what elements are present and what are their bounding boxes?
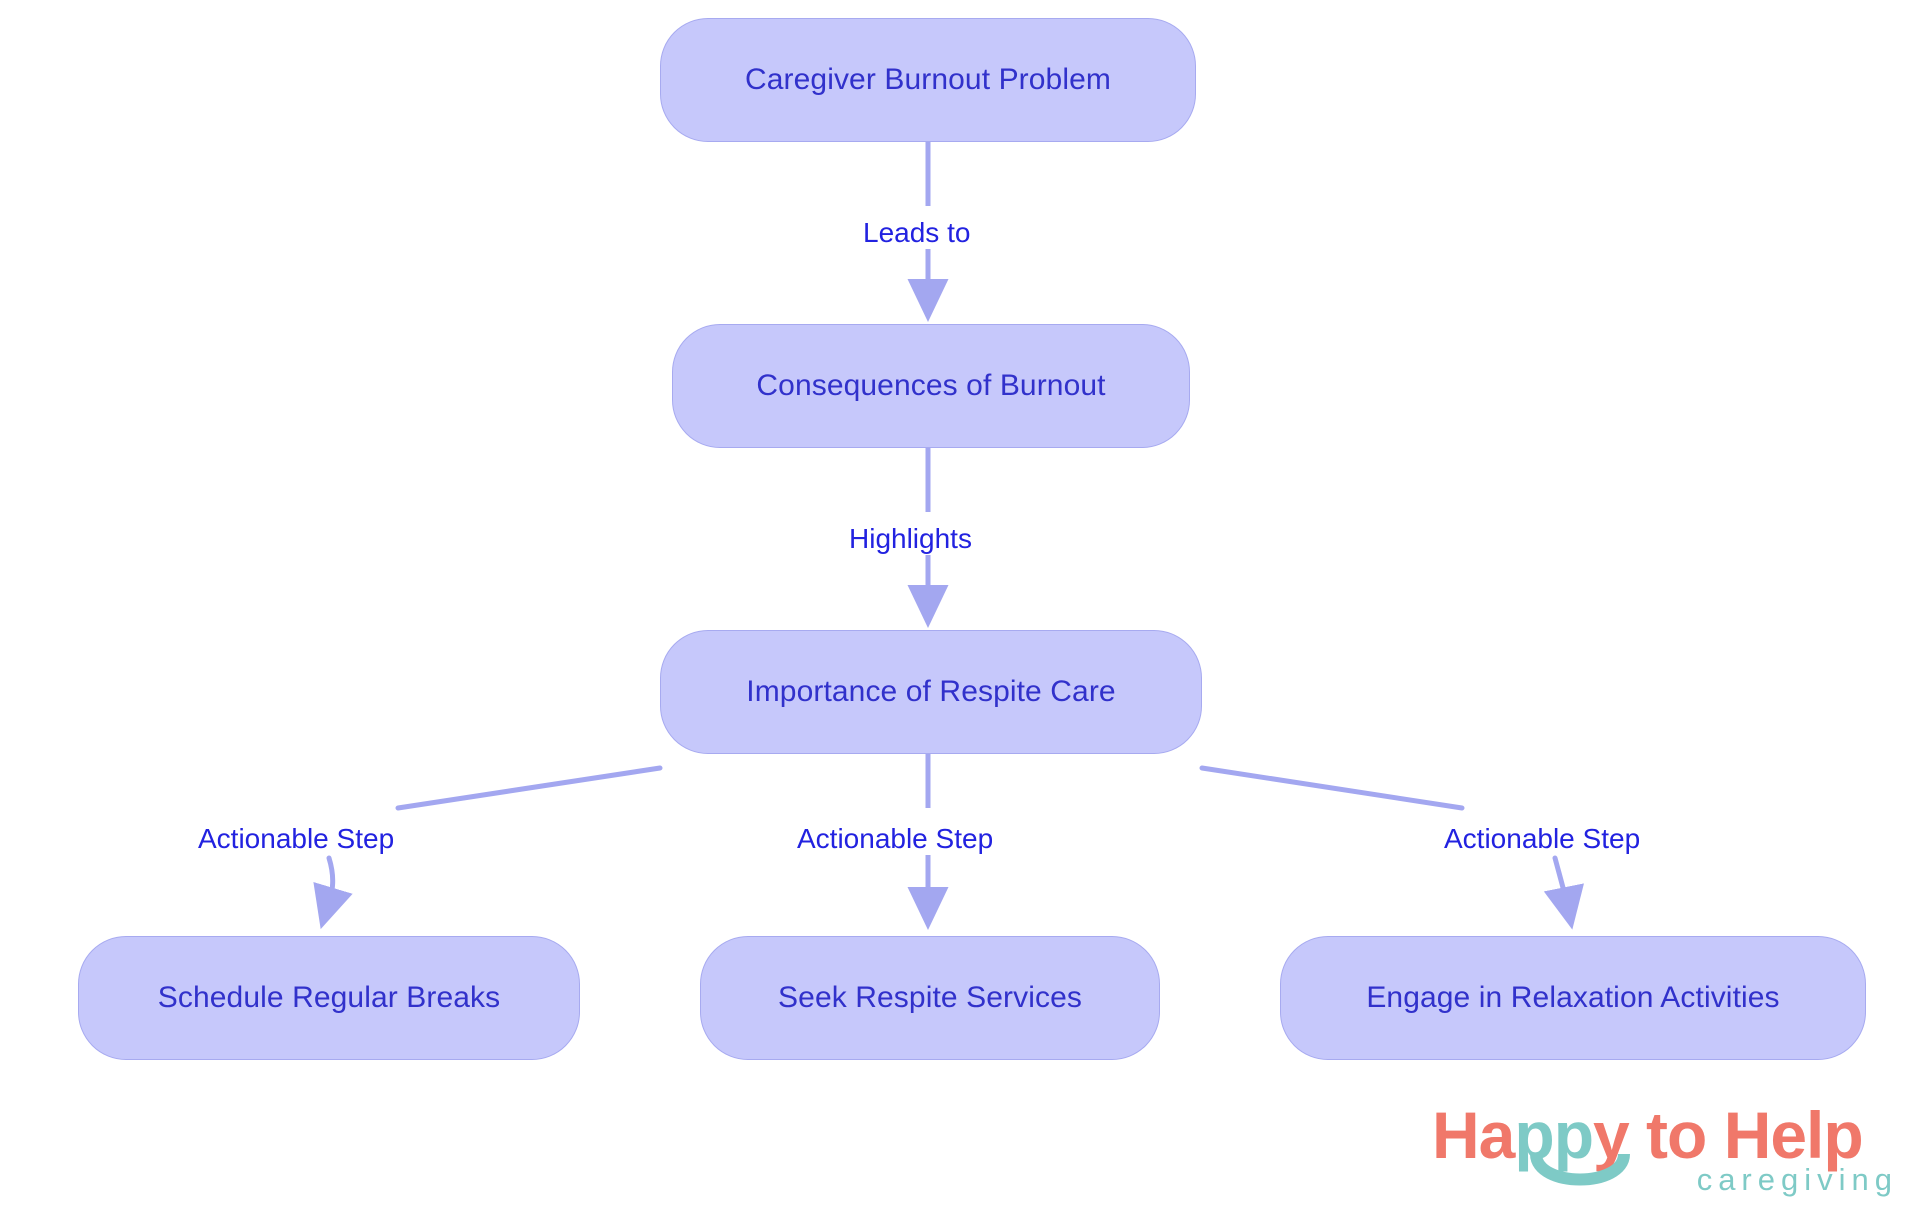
edge-label-leads-to: Leads to [857,218,976,249]
node-label: Engage in Relaxation Activities [1366,981,1779,1015]
node-caregiver-burnout-problem[interactable]: Caregiver Burnout Problem [660,18,1196,142]
node-schedule-regular-breaks[interactable]: Schedule Regular Breaks [78,936,580,1060]
logo-subtitle: caregiving [1697,1160,1898,1200]
edge-label-actionable-step-middle: Actionable Step [791,824,999,855]
edge-label-highlights: Highlights [843,524,978,555]
edge-label-actionable-step-right: Actionable Step [1438,824,1646,855]
node-label: Schedule Regular Breaks [158,981,501,1015]
node-label: Consequences of Burnout [756,369,1105,403]
node-consequences-of-burnout[interactable]: Consequences of Burnout [672,324,1190,448]
node-seek-respite-services[interactable]: Seek Respite Services [700,936,1160,1060]
node-label: Seek Respite Services [778,981,1082,1015]
smile-icon [1528,1150,1632,1206]
node-label: Caregiver Burnout Problem [745,63,1111,97]
node-importance-of-respite-care[interactable]: Importance of Respite Care [660,630,1202,754]
happy-to-help-logo: Happy to Help caregiving [1432,1098,1904,1210]
logo-word-part-1: Ha [1432,1098,1514,1172]
node-engage-in-relaxation-activities[interactable]: Engage in Relaxation Activities [1280,936,1866,1060]
flowchart-canvas: Caregiver Burnout Problem Consequences o… [0,0,1920,1215]
edge-label-actionable-step-left: Actionable Step [192,824,400,855]
node-label: Importance of Respite Care [746,675,1115,709]
